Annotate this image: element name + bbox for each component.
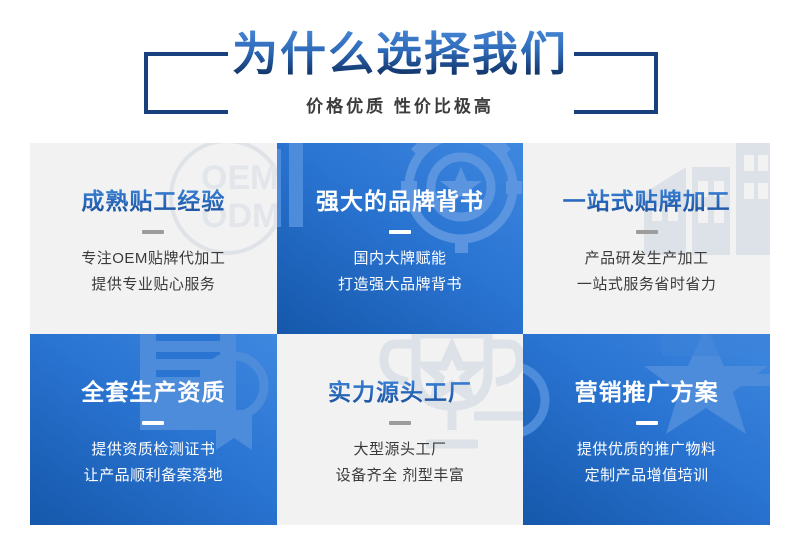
feature-card-4-divider — [142, 421, 164, 425]
feature-card-6-divider — [636, 421, 658, 425]
feature-card-5-content: 实力源头工厂 大型源头工厂 设备齐全 剂型丰富 — [277, 377, 524, 489]
feature-card-5-title: 实力源头工厂 — [277, 377, 524, 407]
feature-card-5-divider — [389, 421, 411, 425]
feature-card-3-content: 一站式贴牌加工 产品研发生产加工 一站式服务省时省力 — [523, 186, 770, 298]
feature-card-6-content: 营销推广方案 提供优质的推广物料 定制产品增值培训 — [523, 377, 770, 489]
feature-card-3-title: 一站式贴牌加工 — [523, 186, 770, 216]
feature-card-4[interactable]: 全套生产资质 提供资质检测证书 让产品顺利备案落地 — [30, 334, 277, 525]
feature-card-4-content: 全套生产资质 提供资质检测证书 让产品顺利备案落地 — [30, 377, 277, 489]
feature-card-4-desc-line1: 提供资质检测证书 — [30, 437, 277, 463]
feature-card-6-title: 营销推广方案 — [523, 377, 770, 407]
feature-card-2-content: 强大的品牌背书 国内大牌赋能 打造强大品牌背书 — [277, 186, 524, 298]
feature-card-3[interactable]: 一站式贴牌加工 产品研发生产加工 一站式服务省时省力 — [523, 143, 770, 334]
feature-card-5[interactable]: 实力源头工厂 大型源头工厂 设备齐全 剂型丰富 — [277, 334, 524, 525]
feature-card-2-desc-line2: 打造强大品牌背书 — [277, 272, 524, 298]
feature-card-2-divider — [389, 230, 411, 234]
feature-card-6[interactable]: 营销推广方案 提供优质的推广物料 定制产品增值培训 — [523, 334, 770, 525]
feature-card-2[interactable]: 强大的品牌背书 国内大牌赋能 打造强大品牌背书 — [277, 143, 524, 334]
page-subtitle: 价格优质 性价比极高 — [292, 92, 508, 117]
feature-card-1-content: 成熟贴工经验 专注OEM贴牌代加工 提供专业贴心服务 — [30, 186, 277, 298]
page-subtitle-wrap: 价格优质 性价比极高 — [0, 92, 800, 117]
feature-card-1-desc-line1: 专注OEM贴牌代加工 — [30, 246, 277, 272]
feature-card-1-title: 成熟贴工经验 — [30, 186, 277, 216]
feature-card-2-desc-line1: 国内大牌赋能 — [277, 246, 524, 272]
feature-card-6-desc-line2: 定制产品增值培训 — [523, 463, 770, 489]
features-grid: OEM ODM 成熟贴工经验 专注OEM贴牌代加工 提供专业贴心服务 — [30, 143, 770, 525]
feature-card-4-title: 全套生产资质 — [30, 377, 277, 407]
feature-card-4-desc-line2: 让产品顺利备案落地 — [30, 463, 277, 489]
feature-card-3-divider — [636, 230, 658, 234]
page-title: 为什么选择我们 — [232, 26, 568, 82]
feature-card-1-desc-line2: 提供专业贴心服务 — [30, 272, 277, 298]
feature-card-3-desc-line2: 一站式服务省时省力 — [523, 272, 770, 298]
page-title-wrap: 为什么选择我们 — [0, 26, 800, 82]
feature-card-2-title: 强大的品牌背书 — [277, 186, 524, 216]
feature-card-5-desc-line1: 大型源头工厂 — [277, 437, 524, 463]
feature-card-6-desc-line1: 提供优质的推广物料 — [523, 437, 770, 463]
feature-card-5-desc-line2: 设备齐全 剂型丰富 — [277, 463, 524, 489]
page-header: 为什么选择我们 价格优质 性价比极高 — [0, 0, 800, 143]
feature-card-1-divider — [142, 230, 164, 234]
feature-card-3-desc-line1: 产品研发生产加工 — [523, 246, 770, 272]
feature-card-1[interactable]: OEM ODM 成熟贴工经验 专注OEM贴牌代加工 提供专业贴心服务 — [30, 143, 277, 334]
